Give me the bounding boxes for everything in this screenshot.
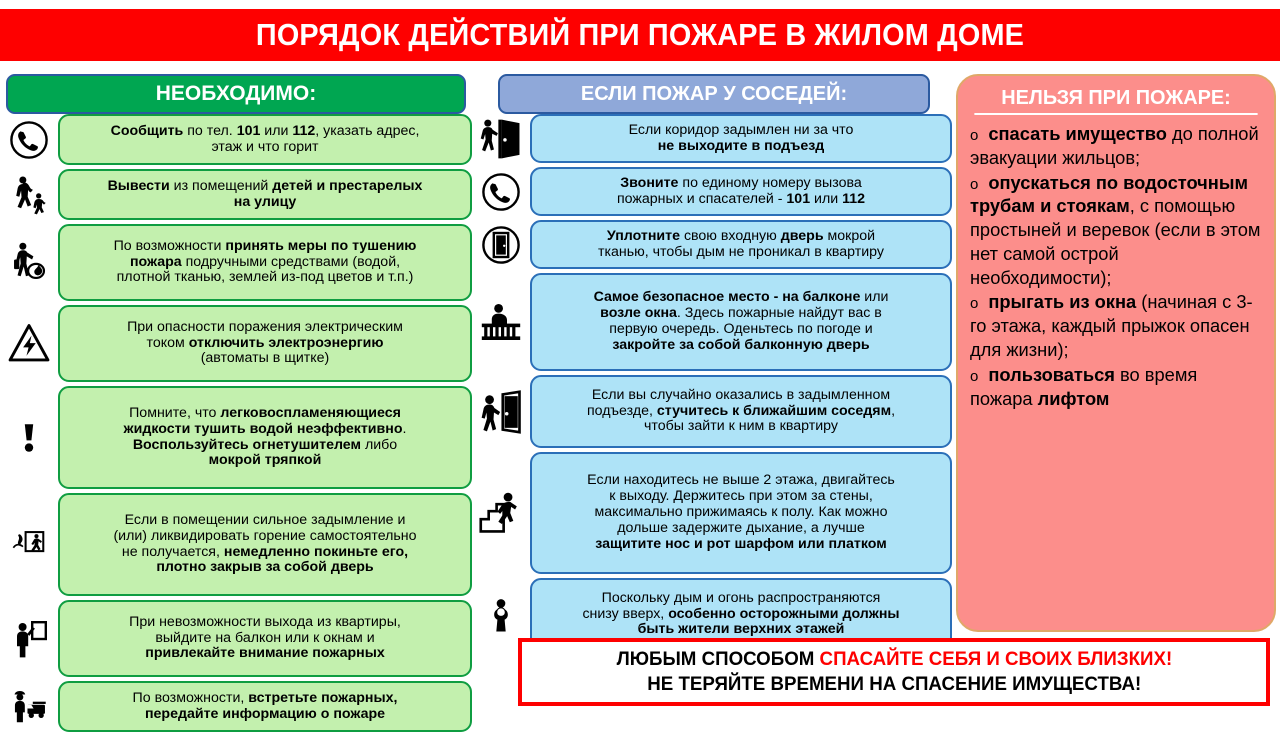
card-line: передайте информацию о пожаре bbox=[67, 707, 463, 723]
card-line: (автоматы в щитке) bbox=[67, 351, 463, 367]
card-line: тканью, чтобы дым не проникал в квартиру bbox=[539, 245, 943, 261]
info-card[interactable]: Звоните по единому номеру вызовапожарных… bbox=[530, 167, 952, 216]
card-line: защитите нос и рот шарфом или платком bbox=[539, 537, 943, 553]
card-line: По возможности, встретьте пожарных, bbox=[67, 691, 463, 707]
plain-text: этаж и что горит bbox=[211, 139, 318, 155]
emphasis-text: Самое безопасное место - на балконе bbox=[594, 289, 861, 305]
plain-text: или bbox=[260, 123, 292, 139]
emphasis-text: принять меры по тушению bbox=[225, 238, 416, 254]
prohibition-list: oспасать имущество до полной эвакуации ж… bbox=[970, 122, 1262, 410]
emphasis-text: стучитесь к ближайшим соседям bbox=[657, 403, 891, 419]
info-row: Если коридор задымлен ни за чтоне выходи… bbox=[472, 114, 952, 163]
card-line: Звоните по единому номеру вызова bbox=[539, 176, 943, 192]
plain-text: Поскольку дым и огонь распространяются bbox=[602, 590, 881, 606]
info-card[interactable]: При опасности поражения электрическимток… bbox=[58, 305, 472, 382]
plain-text: . Здесь пожарные найдут вас в bbox=[677, 305, 882, 321]
emphasis-text: плотно закрыв за собой дверь bbox=[156, 559, 373, 575]
plain-text: или bbox=[810, 191, 842, 207]
emphasis-text: прыгать из окна bbox=[988, 291, 1136, 312]
info-row: По возможности, встретьте пожарных,перед… bbox=[0, 681, 472, 732]
info-row: Если в помещении сильное задымление и(ил… bbox=[0, 493, 472, 596]
plain-text: выйдите на балкон или к окнам и bbox=[155, 630, 374, 646]
card-line: Сообщить по тел. 101 или 112, указать ад… bbox=[67, 124, 463, 140]
info-row: Если находитесь не выше 2 этажа, двигайт… bbox=[472, 452, 952, 574]
plain-text: из помещений bbox=[170, 178, 273, 194]
card-line: Самое безопасное место - на балконе или bbox=[539, 290, 943, 306]
plain-text: . bbox=[402, 421, 406, 437]
info-card[interactable]: Если вы случайно оказались в задымленном… bbox=[530, 375, 952, 448]
info-row: При невозможности выхода из квартиры,вый… bbox=[0, 600, 472, 677]
emphasis-text: закройте за собой балконную дверь bbox=[612, 337, 869, 353]
emphasis-text: Уплотните bbox=[607, 228, 680, 244]
plain-text: или bbox=[860, 289, 888, 305]
plain-text: по тел. bbox=[183, 123, 236, 139]
green-column-header: НЕОБХОДИМО: bbox=[6, 74, 466, 114]
emphasis-text: немедленно покиньте его, bbox=[224, 544, 408, 560]
plain-text: , указать адрес, bbox=[315, 123, 419, 139]
plain-text: По возможности bbox=[114, 238, 226, 254]
plain-text: мокрой bbox=[824, 228, 876, 244]
person-on-balcony-icon bbox=[472, 302, 530, 342]
plain-text: При опасности поражения электрическим bbox=[127, 319, 403, 335]
emphasis-text: Воспользуйтесь огнетушителем bbox=[133, 437, 361, 453]
card-line: Если находитесь не выше 2 этажа, двигайт… bbox=[539, 473, 943, 489]
emphasis-text: легковоспламеняющиеся bbox=[220, 405, 401, 421]
emphasis-text: не выходите в подъезд bbox=[658, 138, 825, 154]
green-column: НЕОБХОДИМО: Сообщить по тел. 101 или 112… bbox=[0, 74, 472, 714]
card-line: При невозможности выхода из квартиры, bbox=[67, 615, 463, 631]
person-leaving-door-icon bbox=[472, 117, 530, 161]
warning-line-1: ЛЮБЫМ СПОСОБОМ СПАСАЙТЕ СЕБЯ И СВОИХ БЛИ… bbox=[616, 647, 1172, 672]
card-line: на улицу bbox=[67, 195, 463, 211]
card-line: максимально прижимаясь к полу. Как можно bbox=[539, 505, 943, 521]
card-line: этаж и что горит bbox=[67, 140, 463, 156]
warning-line-1-accent: СПАСАЙТЕ СЕБЯ И СВОИХ БЛИЗКИХ! bbox=[819, 648, 1172, 670]
info-card[interactable]: Помните, что легковоспламеняющиесяжидкос… bbox=[58, 386, 472, 489]
plain-text: , bbox=[891, 403, 895, 419]
adult-with-child-icon bbox=[0, 173, 58, 217]
info-row: Сообщить по тел. 101 или 112, указать ад… bbox=[0, 114, 472, 165]
card-line: подъезде, стучитесь к ближайшим соседям, bbox=[539, 404, 943, 420]
plain-text: Помните, что bbox=[129, 405, 220, 421]
page-title: ПОРЯДОК ДЕЙСТВИЙ ПРИ ПОЖАРЕ В ЖИЛОМ ДОМЕ bbox=[256, 17, 1024, 53]
pink-column: НЕЛЬЗЯ ПРИ ПОЖАРЕ: oспасать имущество до… bbox=[956, 74, 1276, 632]
emphasis-text: дверь bbox=[781, 228, 824, 244]
card-line: При опасности поражения электрическим bbox=[67, 320, 463, 336]
info-row: По возможности принять меры по тушениюпо… bbox=[0, 224, 472, 301]
info-row: Если вы случайно оказались в задымленном… bbox=[472, 375, 952, 448]
plain-text: током bbox=[147, 335, 189, 351]
prohibition-item: oпользоваться во время пожара лифтом bbox=[970, 363, 1262, 411]
card-line: Вывести из помещений детей и престарелых bbox=[67, 179, 463, 195]
plain-text: подъезде, bbox=[587, 403, 657, 419]
plain-text: По возможности, bbox=[133, 690, 249, 706]
emphasis-text: лифтом bbox=[1038, 388, 1110, 409]
plain-text: по единому номеру вызова bbox=[678, 175, 861, 191]
plain-text: либо bbox=[361, 437, 397, 453]
emphasis-text: 101 bbox=[786, 191, 810, 207]
plain-text: Если в помещении сильное задымление и bbox=[125, 512, 406, 528]
card-line: пожара подручными средствами (водой, bbox=[67, 255, 463, 271]
prohibition-item: oпрыгать из окна (начиная с 3-го этажа, … bbox=[970, 290, 1262, 361]
exclamation-mark-icon bbox=[0, 415, 58, 461]
emphasis-text: пожара bbox=[130, 254, 182, 270]
plain-text: Если коридор задымлен ни за что bbox=[629, 122, 854, 138]
info-card[interactable]: При невозможности выхода из квартиры,вый… bbox=[58, 600, 472, 677]
bullet-icon: o bbox=[970, 127, 978, 144]
plain-text: снизу вверх, bbox=[582, 606, 668, 622]
emphasis-text: защитите нос и рот шарфом или платком bbox=[595, 536, 887, 552]
info-card[interactable]: Вывести из помещений детей и престарелых… bbox=[58, 169, 472, 220]
card-line: первую очередь. Оденьтесь по погоде и bbox=[539, 322, 943, 338]
plain-text: подручными средствами (водой, bbox=[182, 254, 400, 270]
info-card[interactable]: Самое безопасное место - на балконе илив… bbox=[530, 273, 952, 371]
warning-line-2: НЕ ТЕРЯЙТЕ ВРЕМЕНИ НА СПАСЕНИЕ ИМУЩЕСТВА… bbox=[647, 672, 1141, 697]
card-line: плотной тканью, землей из-под цветов и т… bbox=[67, 270, 463, 286]
emphasis-text: передайте информацию о пожаре bbox=[145, 706, 385, 722]
blue-header-label: ЕСЛИ ПОЖАР У СОСЕДЕЙ: bbox=[581, 83, 847, 106]
prohibitions-panel: НЕЛЬЗЯ ПРИ ПОЖАРЕ: oспасать имущество до… bbox=[956, 74, 1276, 632]
card-line: выйдите на балкон или к окнам и bbox=[67, 631, 463, 647]
bullet-icon: o bbox=[970, 368, 978, 385]
plain-text: плотной тканью, землей из-под цветов и т… bbox=[117, 269, 414, 285]
info-row: Вывести из помещений детей и престарелых… bbox=[0, 169, 472, 220]
card-line: не выходите в подъезд bbox=[539, 139, 943, 155]
card-line: Если вы случайно оказались в задымленном bbox=[539, 388, 943, 404]
card-line: снизу вверх, особенно осторожными должны bbox=[539, 607, 943, 623]
emphasis-text: возле окна bbox=[600, 305, 677, 321]
card-line: Уплотните свою входную дверь мокрой bbox=[539, 229, 943, 245]
emphasis-text: спасать имущество bbox=[988, 123, 1167, 144]
emphasis-text: 112 bbox=[842, 191, 865, 207]
bullet-icon: o bbox=[970, 295, 978, 312]
final-warning-box: ЛЮБЫМ СПОСОБОМ СПАСАЙТЕ СЕБЯ И СВОИХ БЛИ… bbox=[518, 638, 1270, 706]
card-line: не получается, немедленно покиньте его, bbox=[67, 545, 463, 561]
info-card[interactable]: По возможности принять меры по тушениюпо… bbox=[58, 224, 472, 301]
emphasis-text: Вывести bbox=[108, 178, 170, 194]
info-card[interactable]: По возможности, встретьте пожарных,перед… bbox=[58, 681, 472, 732]
card-line: к выходу. Держитесь при этом за стены, bbox=[539, 489, 943, 505]
prohibition-item: oспасать имущество до полной эвакуации ж… bbox=[970, 122, 1262, 170]
plain-text: дольше задержите дыхание, а лучше bbox=[617, 520, 864, 536]
emphasis-text: детей и престарелых bbox=[272, 178, 422, 194]
card-line: жидкости тушить водой неэффективно. bbox=[67, 422, 463, 438]
emphasis-text: 112 bbox=[292, 123, 315, 139]
blue-column-header: ЕСЛИ ПОЖАР У СОСЕДЕЙ: bbox=[498, 74, 930, 114]
card-line: Воспользуйтесь огнетушителем либо bbox=[67, 438, 463, 454]
plain-text: первую очередь. Оденьтесь по погоде и bbox=[609, 321, 872, 337]
page-title-bar: ПОРЯДОК ДЕЙСТВИЙ ПРИ ПОЖАРЕ В ЖИЛОМ ДОМЕ bbox=[0, 9, 1280, 61]
card-line: током отключить электроэнергию bbox=[67, 336, 463, 352]
plain-text: тканью, чтобы дым не проникал в квартиру bbox=[598, 244, 884, 260]
info-row: Помните, что легковоспламеняющиесяжидкос… bbox=[0, 386, 472, 489]
plain-text: не получается, bbox=[122, 544, 224, 560]
card-line: быть жители верхних этажей bbox=[539, 622, 943, 638]
card-line: По возможности принять меры по тушению bbox=[67, 239, 463, 255]
card-line: плотно закрыв за собой дверь bbox=[67, 560, 463, 576]
card-line: Если в помещении сильное задымление и bbox=[67, 513, 463, 529]
emphasis-text: особенно осторожными должны bbox=[668, 606, 899, 622]
card-line: мокрой тряпкой bbox=[67, 453, 463, 469]
info-card[interactable]: Если в помещении сильное задымление и(ил… bbox=[58, 493, 472, 596]
card-line: чтобы зайти к ним в квартиру bbox=[539, 419, 943, 435]
phone-circle-icon bbox=[472, 172, 530, 212]
bullet-icon: o bbox=[970, 176, 978, 193]
person-knocking-door-icon bbox=[472, 390, 530, 434]
plain-text: к выходу. Держитесь при этом за стены, bbox=[609, 488, 873, 504]
card-line: Помните, что легковоспламеняющиеся bbox=[67, 406, 463, 422]
person-at-window-icon bbox=[0, 615, 58, 663]
emphasis-text: 101 bbox=[237, 123, 261, 139]
card-line: пожарных и спасателей - 101 или 112 bbox=[539, 192, 943, 208]
plain-text: Если находитесь не выше 2 этажа, двигайт… bbox=[587, 472, 895, 488]
blue-item-list: Если коридор задымлен ни за чтоне выходи… bbox=[472, 114, 952, 651]
emphasis-text: Звоните bbox=[620, 175, 678, 191]
emphasis-text: на улицу bbox=[234, 194, 296, 210]
emphasis-text: отключить электроэнергию bbox=[189, 335, 384, 351]
person-on-stairs-icon bbox=[472, 491, 530, 535]
fire-exit-icon bbox=[0, 528, 58, 562]
info-card[interactable]: Уплотните свою входную дверь мокройткань… bbox=[530, 220, 952, 269]
phone-circle-icon bbox=[0, 120, 58, 160]
blue-column: ЕСЛИ ПОЖАР У СОСЕДЕЙ: Если коридор задым… bbox=[472, 74, 952, 634]
plain-text: максимально прижимаясь к полу. Как можно bbox=[595, 504, 888, 520]
warning-line-1-prefix: ЛЮБЫМ СПОСОБОМ bbox=[616, 648, 819, 670]
plain-text: чтобы зайти к ним в квартиру bbox=[644, 418, 838, 434]
info-row: Самое безопасное место - на балконе илив… bbox=[472, 273, 952, 371]
info-row: Звоните по единому номеру вызовапожарных… bbox=[472, 167, 952, 216]
door-circle-icon bbox=[472, 225, 530, 265]
green-header-label: НЕОБХОДИМО: bbox=[156, 82, 316, 106]
info-card[interactable]: Сообщить по тел. 101 или 112, указать ад… bbox=[58, 114, 472, 165]
emphasis-text: пользоваться bbox=[988, 364, 1115, 385]
card-line: (или) ликвидировать горение самостоятель… bbox=[67, 529, 463, 545]
card-line: привлекайте внимание пожарных bbox=[67, 646, 463, 662]
person-covering-face-icon bbox=[472, 592, 530, 638]
info-row: При опасности поражения электрическимток… bbox=[0, 305, 472, 382]
info-card[interactable]: Если коридор задымлен ни за чтоне выходи… bbox=[530, 114, 952, 163]
emphasis-text: привлекайте внимание пожарных bbox=[145, 645, 384, 661]
emphasis-text: мокрой тряпкой bbox=[209, 452, 322, 468]
plain-text: (автоматы в щитке) bbox=[201, 350, 330, 366]
card-line: Поскольку дым и огонь распространяются bbox=[539, 591, 943, 607]
plain-text: Если вы случайно оказались в задымленном bbox=[592, 387, 890, 403]
card-line: Если коридор задымлен ни за что bbox=[539, 123, 943, 139]
card-line: закройте за собой балконную дверь bbox=[539, 338, 943, 354]
plain-text: При невозможности выхода из квартиры, bbox=[129, 614, 401, 630]
electrical-hazard-icon bbox=[0, 323, 58, 365]
person-extinguishing-fire-icon bbox=[0, 241, 58, 285]
green-item-list: Сообщить по тел. 101 или 112, указать ад… bbox=[0, 114, 472, 732]
info-row: Уплотните свою входную дверь мокройткань… bbox=[472, 220, 952, 269]
pink-column-header: НЕЛЬЗЯ ПРИ ПОЖАРЕ: bbox=[974, 86, 1257, 115]
emphasis-text: жидкости тушить водой неэффективно bbox=[124, 421, 403, 437]
plain-text: пожарных и спасателей - bbox=[617, 191, 786, 207]
emphasis-text: быть жители верхних этажей bbox=[638, 621, 845, 637]
card-line: возле окна. Здесь пожарные найдут вас в bbox=[539, 306, 943, 322]
plain-text: (или) ликвидировать горение самостоятель… bbox=[113, 528, 416, 544]
emphasis-text: встретьте пожарных, bbox=[248, 690, 397, 706]
plain-text: свою входную bbox=[680, 228, 781, 244]
info-card[interactable]: Если находитесь не выше 2 этажа, двигайт… bbox=[530, 452, 952, 574]
prohibition-item: oопускаться по водосточным трубам и стоя… bbox=[970, 171, 1262, 290]
card-line: дольше задержите дыхание, а лучше bbox=[539, 521, 943, 537]
emphasis-text: Сообщить bbox=[111, 123, 184, 139]
